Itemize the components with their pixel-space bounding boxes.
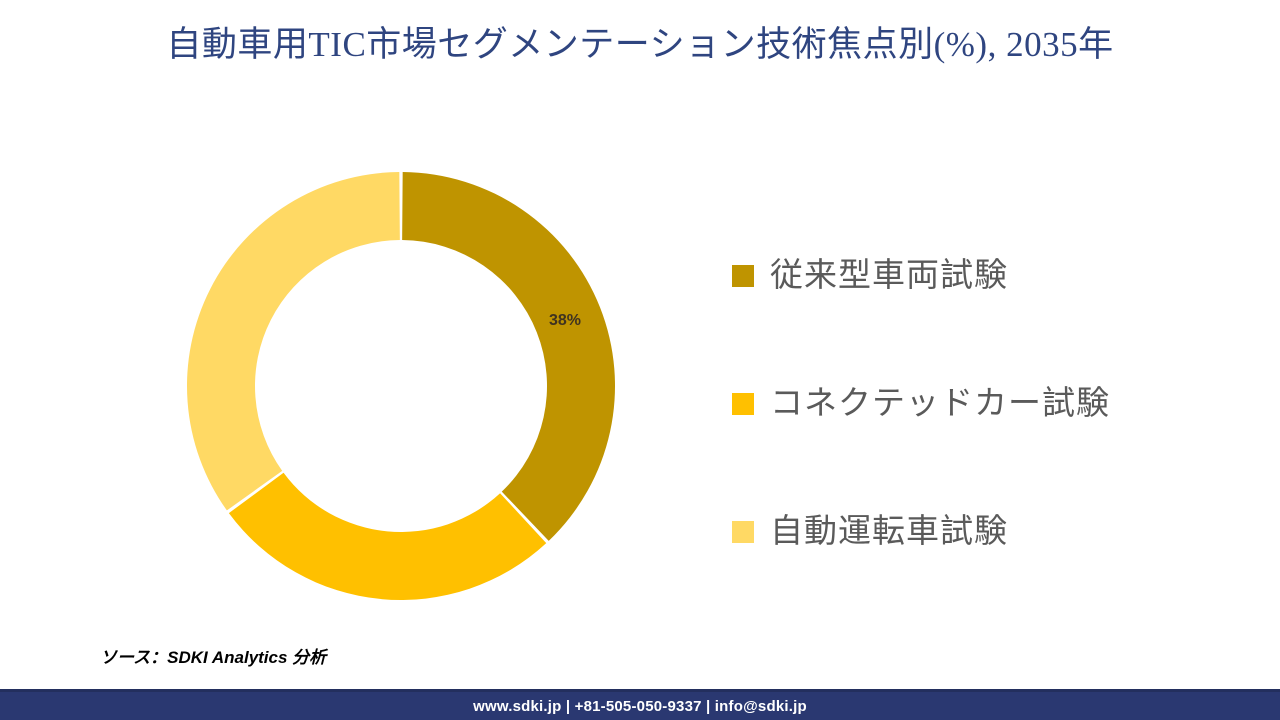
donut-slice-group — [187, 172, 615, 600]
legend-label-autonomous: 自動運転車試験 — [770, 516, 1008, 549]
chart-legend: 従来型車両試験 コネクテッドカー試験 自動運転車試験 — [732, 212, 1202, 596]
donut-chart-svg — [185, 170, 617, 602]
donut-slice-1[interactable] — [229, 473, 546, 600]
slice-label-conventional: 38% — [549, 312, 581, 330]
legend-swatch-icon-autonomous — [732, 521, 754, 543]
legend-swatch-icon-connected — [732, 393, 754, 415]
source-note: ソース：SDKI Analytics 分析 — [100, 643, 326, 668]
donut-chart: 38% — [185, 170, 617, 602]
legend-swatch-icon-conventional — [732, 265, 754, 287]
legend-item-connected[interactable]: コネクテッドカー試験 — [732, 340, 1202, 468]
page-title: 自動車用TIC市場セグメンテーション技術焦点別(%), 2035年 — [0, 24, 1280, 66]
donut-slice-0[interactable] — [402, 172, 615, 541]
legend-item-conventional[interactable]: 従来型車両試験 — [732, 212, 1202, 340]
legend-label-conventional: 従来型車両試験 — [770, 260, 1008, 293]
footer-bar: www.sdki.jp | +81-505-050-9337 | info@sd… — [0, 689, 1280, 720]
legend-item-autonomous[interactable]: 自動運転車試験 — [732, 468, 1202, 596]
donut-slice-2[interactable] — [187, 172, 400, 510]
slide-canvas: 自動車用TIC市場セグメンテーション技術焦点別(%), 2035年 38% 従来… — [0, 0, 1280, 720]
legend-label-connected: コネクテッドカー試験 — [770, 388, 1110, 421]
footer-contact-text[interactable]: www.sdki.jp | +81-505-050-9337 | info@sd… — [473, 698, 807, 715]
